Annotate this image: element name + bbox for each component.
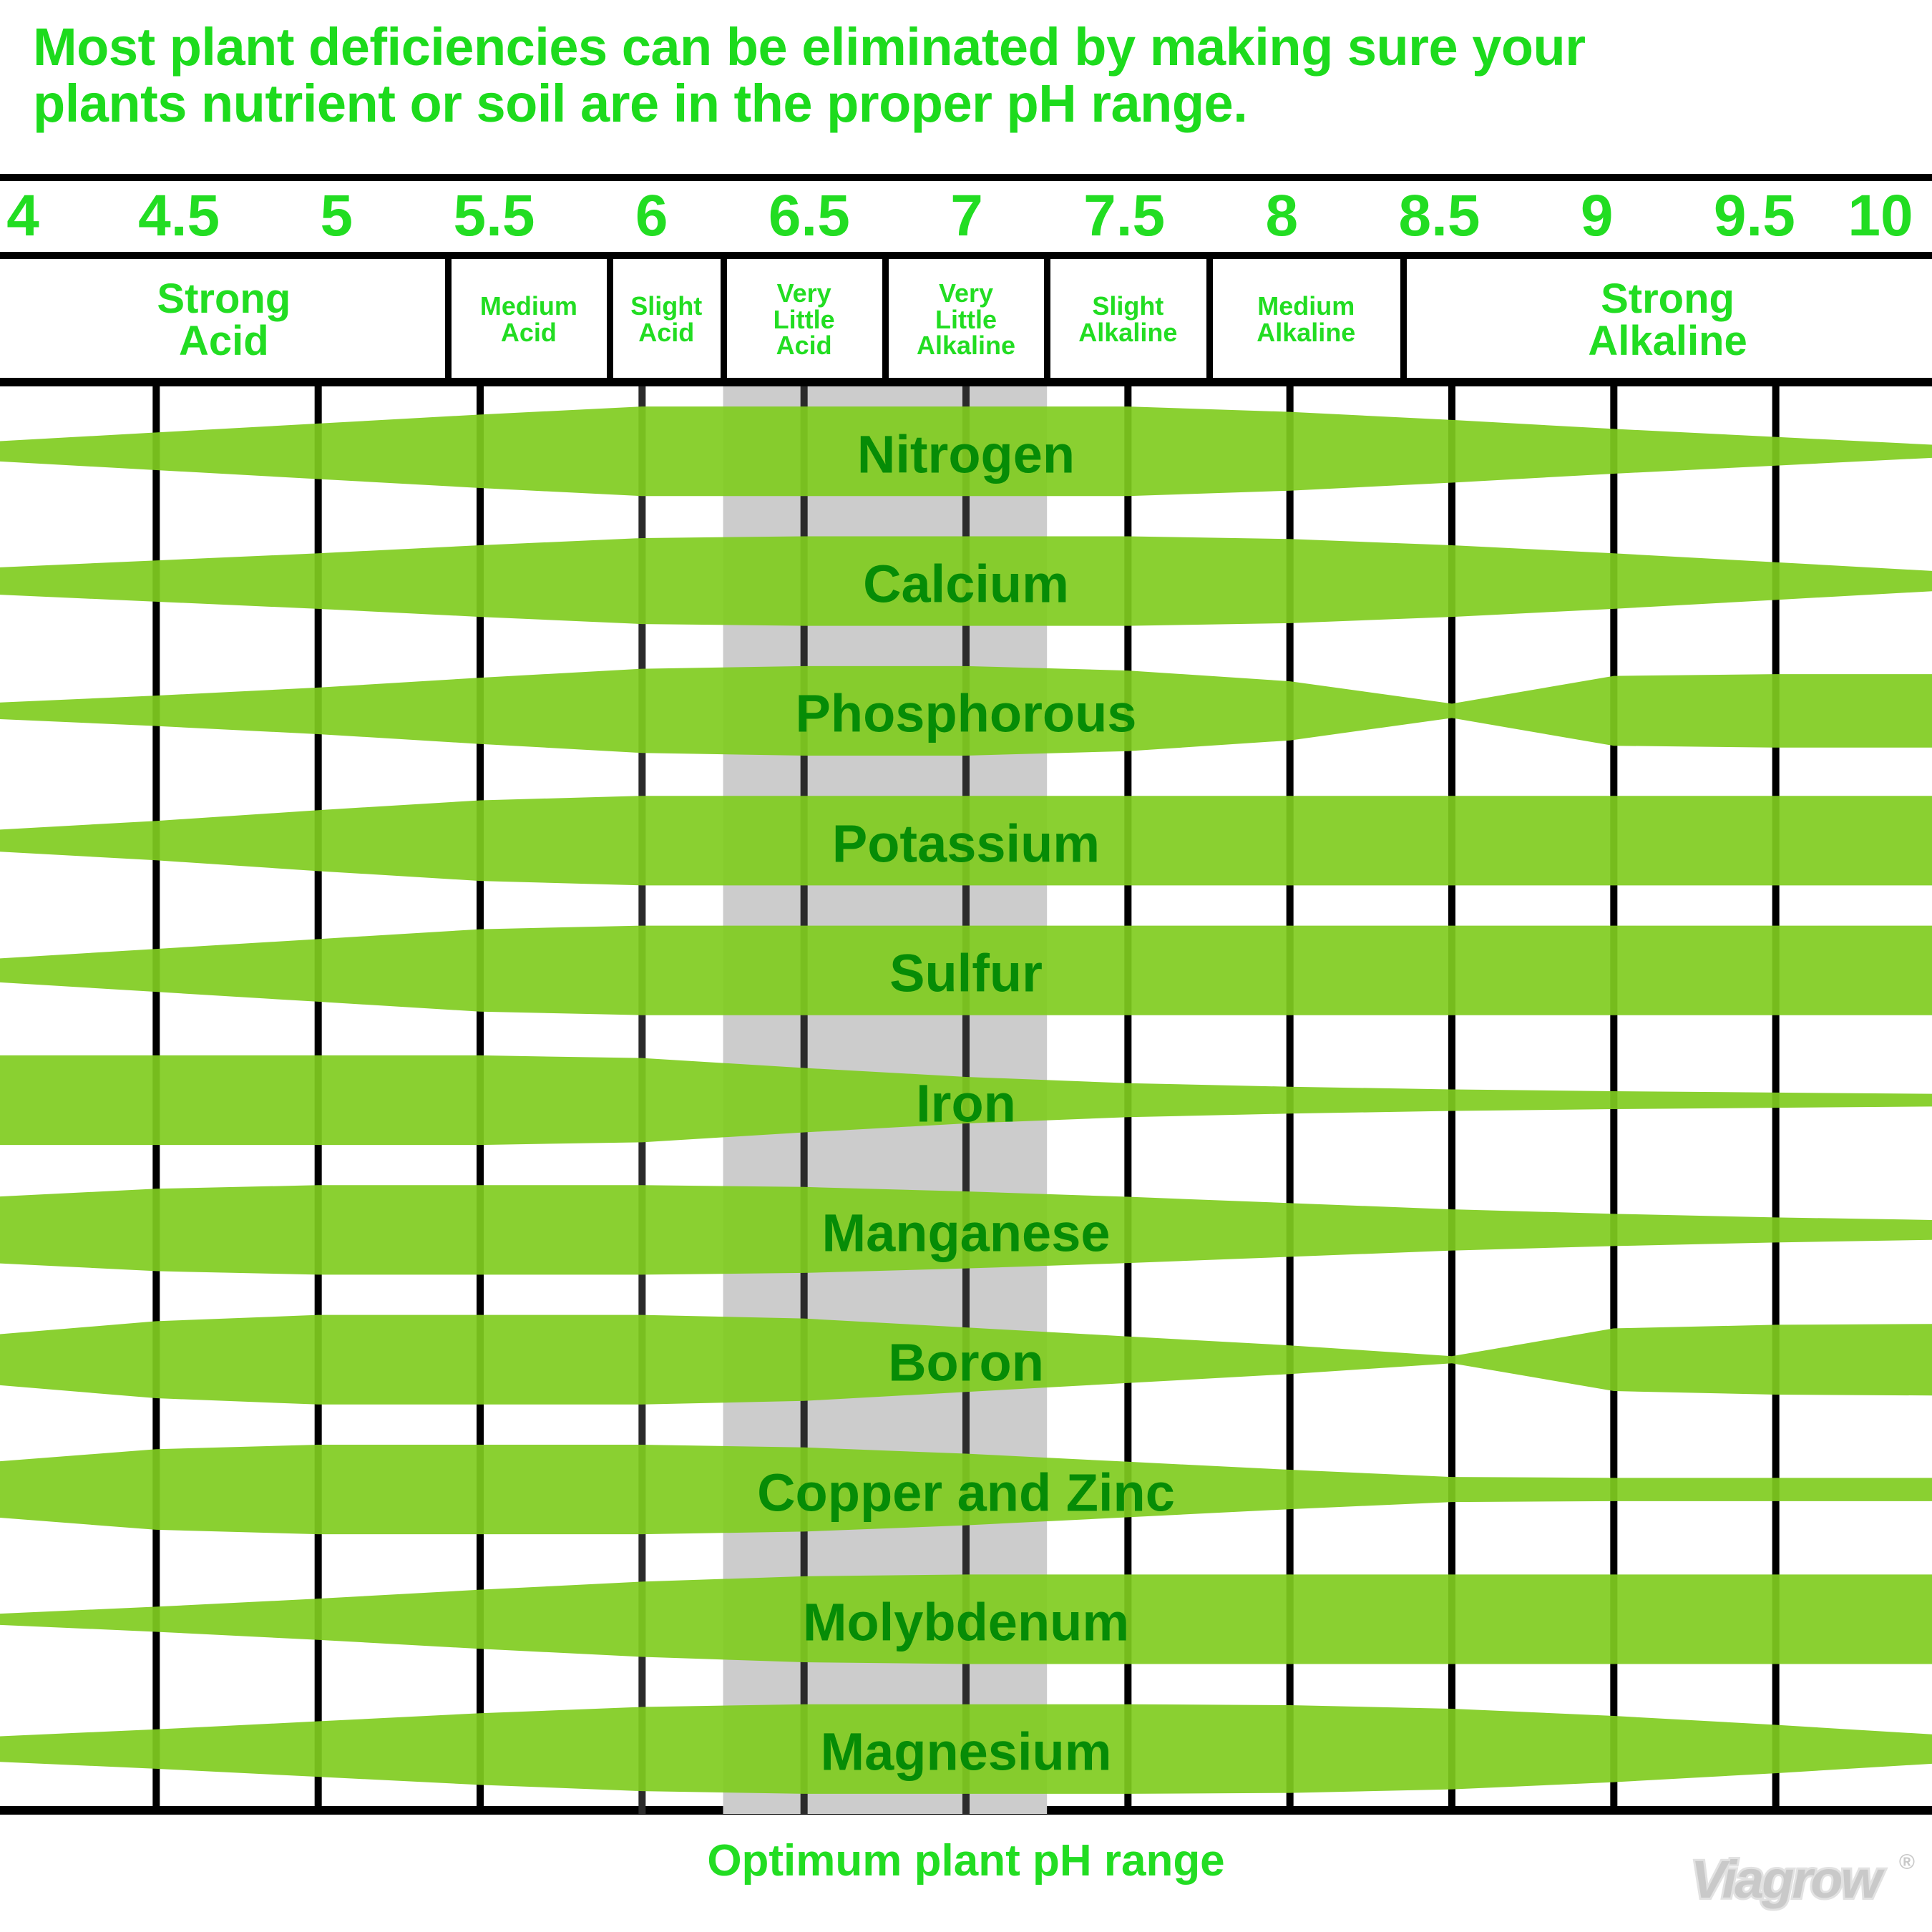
category-label-line: Little [774,307,835,333]
ph-category-slight-alkaline: SlightAlkaline [1047,259,1209,381]
nutrient-label-molybdenum: Molybdenum [0,1591,1932,1652]
category-label-line: Acid [480,320,577,346]
rule-under-scale [0,252,1932,259]
category-label-line: Slight [630,293,702,320]
ph-tick-7-5: 7.5 [1083,180,1165,252]
category-label-line: Acid [774,333,835,359]
category-label-line: Alkaline [1078,320,1177,346]
category-divider [721,259,727,381]
nutrient-label-sulfur: Sulfur [0,943,1932,1004]
ph-tick-9-5: 9.5 [1714,180,1795,252]
ph-tick-7: 7 [950,180,983,252]
ph-tick-9: 9 [1581,180,1614,252]
optimum-range-label: Optimum plant pH range [0,1835,1932,1886]
category-label-line: Alkaline [1257,320,1355,346]
nutrient-label-iron: Iron [0,1073,1932,1133]
nutrient-label-copper-and-zinc: Copper and Zinc [0,1462,1932,1523]
ph-tick-4-5: 4.5 [138,180,220,252]
ph-nutrient-availability-chart: Most plant deficiencies can be eliminate… [0,0,1932,1932]
category-label-line: Little [917,307,1015,333]
nutrient-label-potassium: Potassium [0,813,1932,874]
ph-category-medium-alkaline: MediumAlkaline [1209,259,1404,381]
category-label-line: Very [917,280,1015,307]
category-divider [882,259,889,381]
ph-tick-4: 4 [6,180,39,252]
ph-tick-6: 6 [635,180,668,252]
ph-tick-8-5: 8.5 [1399,180,1480,252]
ph-tick-5: 5 [321,180,353,252]
category-divider [1206,259,1213,381]
ph-tick-6-5: 6.5 [769,180,850,252]
category-label-line: Medium [480,293,577,320]
category-divider [607,259,613,381]
category-label-line: Slight [1078,293,1177,320]
category-label-line: Very [774,280,835,307]
ph-category-slight-acid: SlightAcid [610,259,723,381]
ph-axis-scale: 44.555.566.577.588.599.510 [0,180,1932,252]
ph-category-strong-acid: StrongAcid [0,259,448,381]
nutrient-label-boron: Boron [0,1332,1932,1393]
ph-category-medium-acid: MediumAcid [448,259,610,381]
ph-category-very-little-acid: VeryLittleAcid [723,259,885,381]
ph-tick-5-5: 5.5 [454,180,535,252]
nutrient-label-calcium: Calcium [0,554,1932,615]
ph-category-very-little-alkaline: VeryLittleAlkaline [885,259,1047,381]
ph-category-header: StrongAcidMediumAcidSlightAcidVeryLittle… [0,259,1932,381]
title-line-2: plants nutrient or soil are in the prope… [33,75,1908,132]
category-label-line: Alkaline [1588,320,1747,362]
ph-tick-8: 8 [1266,180,1299,252]
category-label-line: Acid [630,320,702,346]
viagrow-watermark: Viagrow ® [1682,1839,1918,1925]
page-title: Most plant deficiencies can be eliminate… [33,19,1908,132]
ph-category-strong-alkaline: StrongAlkaline [1403,259,1932,381]
category-label-line: Alkaline [917,333,1015,359]
registered-trademark-icon: ® [1899,1850,1915,1875]
nutrient-band-plot: NitrogenCalciumPhosphorousPotassiumSulfu… [0,386,1932,1814]
category-label-line: Strong [1588,278,1747,320]
category-label-line: Acid [157,320,291,362]
title-line-1: Most plant deficiencies can be eliminate… [33,19,1908,75]
category-label-line: Strong [157,278,291,320]
category-divider [1400,259,1407,381]
category-divider [445,259,452,381]
category-divider [1044,259,1050,381]
nutrient-label-nitrogen: Nitrogen [0,424,1932,484]
nutrient-label-magnesium: Magnesium [0,1722,1932,1782]
nutrient-label-manganese: Manganese [0,1202,1932,1263]
watermark-brand: Viagrow [1682,1849,1889,1910]
nutrient-label-phosphorous: Phosphorous [0,683,1932,744]
ph-tick-10: 10 [1848,180,1913,252]
category-label-line: Medium [1257,293,1355,320]
